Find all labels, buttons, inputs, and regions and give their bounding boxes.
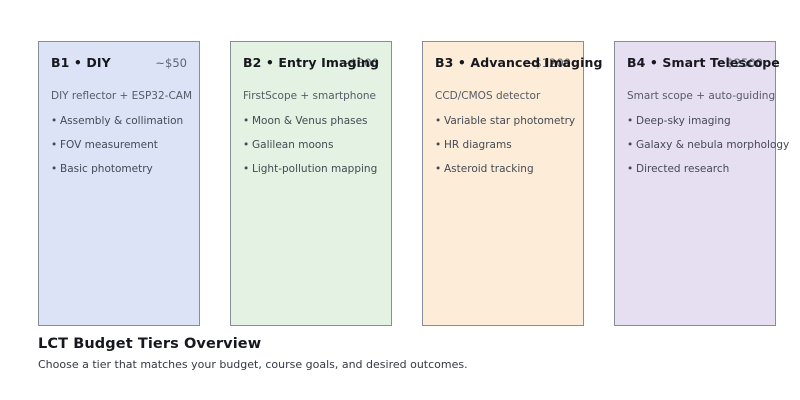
tier-card-subtitle: FirstScope + smartphone bbox=[243, 90, 379, 102]
list-item: Deep-sky imaging bbox=[627, 115, 763, 127]
list-item: Variable star photometry bbox=[435, 115, 571, 127]
budget-tiers-row: B1 • DIY~$50DIY reflector + ESP32-CAMAss… bbox=[38, 41, 778, 326]
tier-card-header: B3 • Advanced Imaging~$1200 bbox=[435, 55, 571, 77]
tier-card-feature-list: Assembly & collimationFOV measurementBas… bbox=[51, 115, 187, 175]
list-item: Light-pollution mapping bbox=[243, 163, 379, 175]
tier-card-feature-list: Moon & Venus phasesGalilean moonsLight-p… bbox=[243, 115, 379, 175]
list-item: HR diagrams bbox=[435, 139, 571, 151]
tier-card[interactable]: B2 • Entry Imaging~$300FirstScope + smar… bbox=[230, 41, 392, 326]
page-title: LCT Budget Tiers Overview bbox=[38, 336, 738, 352]
list-item: Moon & Venus phases bbox=[243, 115, 379, 127]
list-item: Galilean moons bbox=[243, 139, 379, 151]
tier-card-feature-list: Deep-sky imagingGalaxy & nebula morpholo… bbox=[627, 115, 763, 175]
page-subtitle: Choose a tier that matches your budget, … bbox=[38, 358, 738, 371]
tier-card[interactable]: B3 • Advanced Imaging~$1200CCD/CMOS dete… bbox=[422, 41, 584, 326]
tier-card-price: ~$50 bbox=[155, 56, 187, 70]
tier-card-subtitle: CCD/CMOS detector bbox=[435, 90, 571, 102]
list-item: Assembly & collimation bbox=[51, 115, 187, 127]
tier-card[interactable]: B4 • Smart Telescope~$2500Smart scope + … bbox=[614, 41, 776, 326]
tier-card-feature-list: Variable star photometryHR diagramsAster… bbox=[435, 115, 571, 175]
list-item: FOV measurement bbox=[51, 139, 187, 151]
list-item: Basic photometry bbox=[51, 163, 187, 175]
list-item: Directed research bbox=[627, 163, 763, 175]
list-item: Galaxy & nebula morphology bbox=[627, 139, 763, 151]
tier-card-subtitle: Smart scope + auto-guiding bbox=[627, 90, 763, 102]
tier-card-subtitle: DIY reflector + ESP32-CAM bbox=[51, 90, 187, 102]
caption-block: LCT Budget Tiers Overview Choose a tier … bbox=[38, 336, 738, 371]
tier-card-title: B3 • Advanced Imaging bbox=[435, 55, 603, 70]
tier-card[interactable]: B1 • DIY~$50DIY reflector + ESP32-CAMAss… bbox=[38, 41, 200, 326]
tier-card-header: B1 • DIY~$50 bbox=[51, 55, 187, 77]
tier-card-header: B2 • Entry Imaging~$300 bbox=[243, 55, 379, 77]
tier-card-title: B4 • Smart Telescope bbox=[627, 55, 780, 70]
tier-card-title: B1 • DIY bbox=[51, 55, 111, 70]
tier-card-header: B4 • Smart Telescope~$2500 bbox=[627, 55, 763, 77]
tier-card-title: B2 • Entry Imaging bbox=[243, 55, 379, 70]
list-item: Asteroid tracking bbox=[435, 163, 571, 175]
